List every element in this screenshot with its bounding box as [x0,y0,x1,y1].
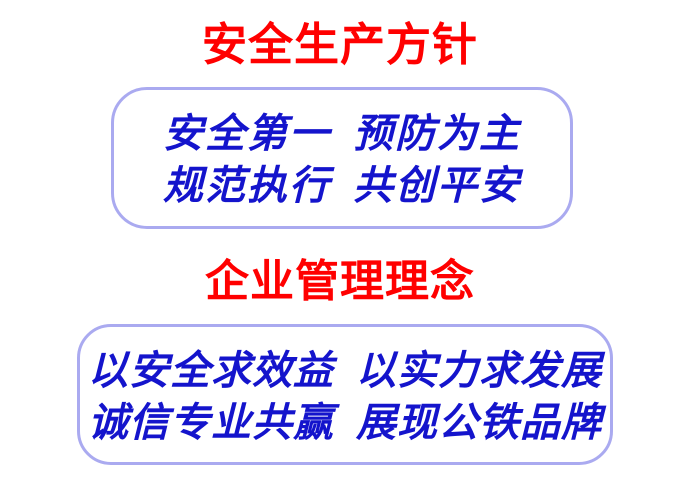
management-philosophy-motto-lines: 以安全求效益以实力求发展 诚信专业共赢展现公铁品牌 [80,345,610,449]
page-title-management-philosophy: 企业管理理念 [0,260,680,304]
safety-policy-box: 安全第一预防为主 规范执行共创平安 [111,87,573,229]
motto-phrase-left: 以安全求效益 [88,347,334,394]
motto-phrase-left: 安全第一 [163,110,331,157]
motto-phrase-right: 以实力求发展 [356,347,602,394]
safety-policy-motto-lines: 安全第一预防为主 规范执行共创平安 [114,108,570,212]
motto-line: 规范执行共创平安 [114,160,570,212]
motto-phrase-left: 规范执行 [163,162,331,209]
motto-line: 诚信专业共赢展现公铁品牌 [80,397,610,449]
slide-canvas: 安全生产方针 安全第一预防为主 规范执行共创平安 企业管理理念 以安全求效益以实… [0,0,680,500]
motto-phrase-right: 预防为主 [353,110,521,157]
management-philosophy-box: 以安全求效益以实力求发展 诚信专业共赢展现公铁品牌 [77,324,613,465]
page-title-safety-policy: 安全生产方针 [0,22,680,67]
motto-line: 以安全求效益以实力求发展 [80,345,610,397]
motto-phrase-right: 共创平安 [353,162,521,209]
motto-phrase-left: 诚信专业共赢 [88,399,334,446]
motto-phrase-right: 展现公铁品牌 [356,399,602,446]
motto-line: 安全第一预防为主 [114,108,570,160]
